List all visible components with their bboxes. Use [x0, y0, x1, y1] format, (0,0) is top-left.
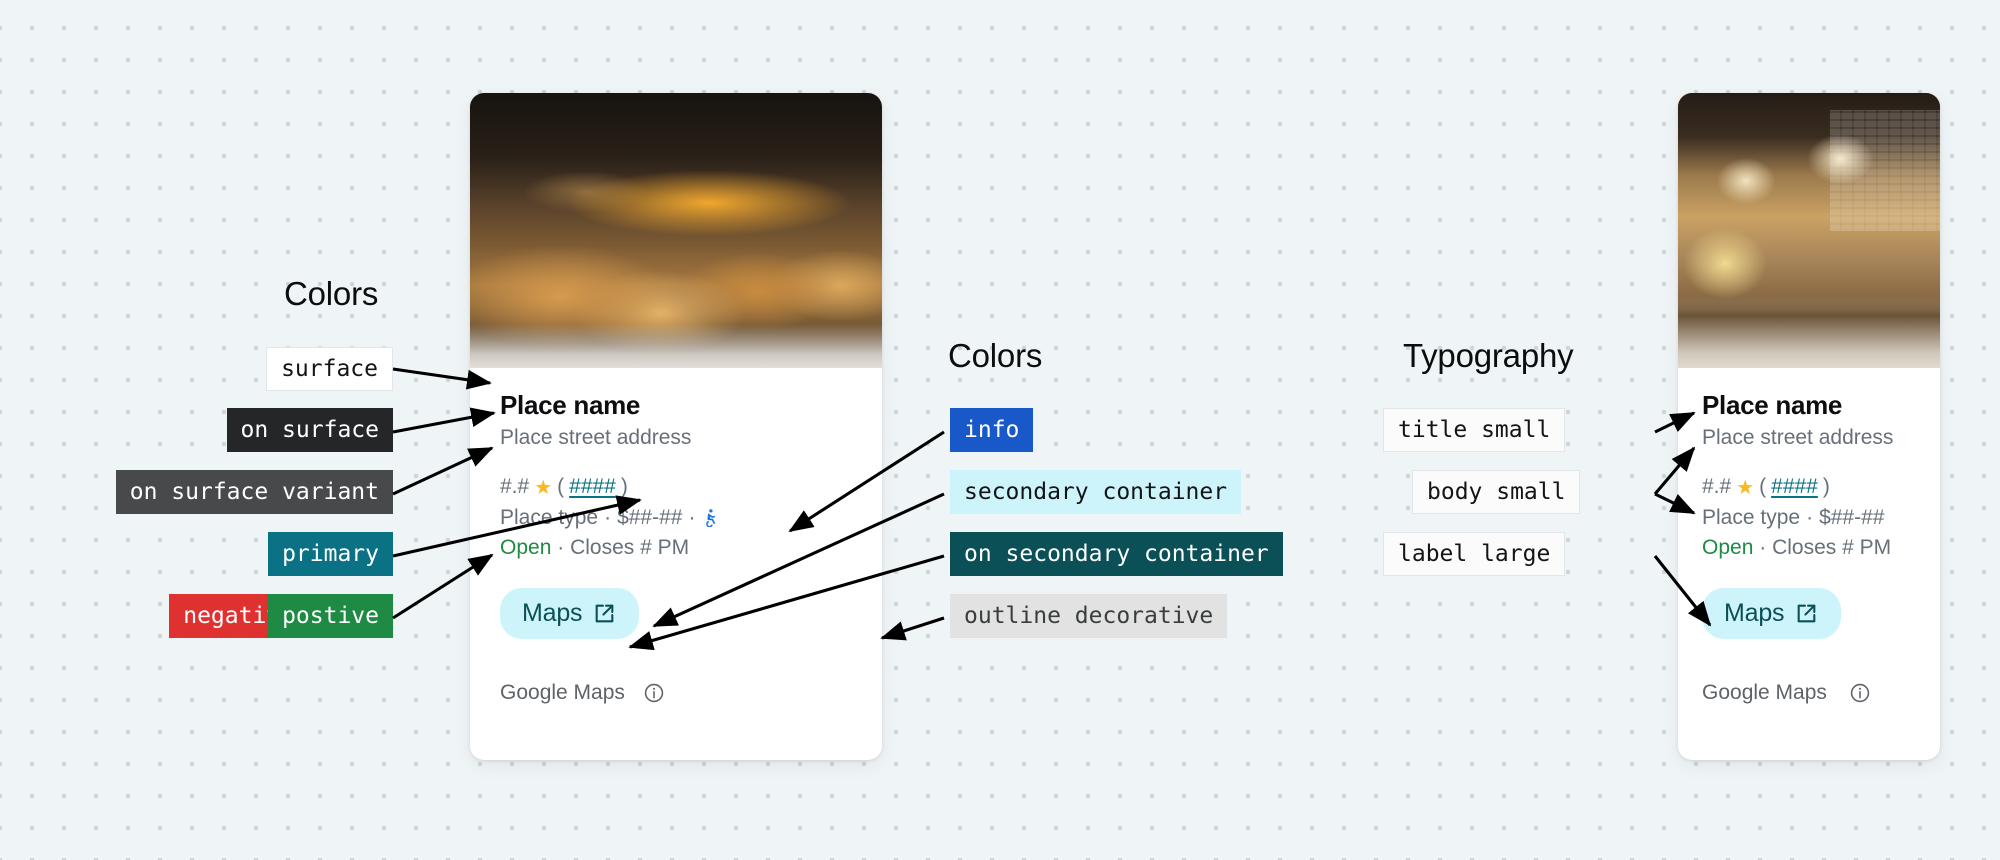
closing-time: Closes # PM — [570, 536, 689, 559]
hours-separator: · — [557, 536, 564, 559]
star-icon: ★ — [534, 478, 552, 498]
place-address: Place street address — [500, 425, 858, 451]
maps-button-label: Maps — [1724, 599, 1784, 628]
place-hours-row: Open · Closes # PM — [500, 534, 858, 562]
info-circle-icon[interactable] — [643, 682, 665, 704]
section-heading-colors-middle: Colors — [948, 337, 1042, 375]
footer-brand-label: Google Maps — [1702, 681, 1827, 705]
maps-button[interactable]: Maps — [500, 588, 639, 639]
color-chip-on-secondary-container[interactable]: on secondary container — [950, 532, 1283, 576]
color-chip-secondary-container[interactable]: secondary container — [950, 470, 1241, 514]
meta-separator-1: · — [1806, 504, 1813, 532]
color-chip-on-surface[interactable]: on surface — [227, 408, 393, 452]
place-card-left: Place name Place street address #.# ★ (#… — [470, 93, 882, 760]
rating-count[interactable]: #### — [1771, 473, 1818, 501]
maps-button[interactable]: Maps — [1702, 588, 1841, 639]
place-card-body: Place name Place street address #.# ★ (#… — [470, 368, 882, 725]
place-name: Place name — [1702, 390, 1926, 421]
typography-chip-label-large[interactable]: label large — [1383, 532, 1565, 576]
color-chip-on-surface-variant[interactable]: on surface variant — [116, 470, 393, 514]
color-chip-primary[interactable]: primary — [268, 532, 393, 576]
place-rating-row: #.# ★ (####) — [1702, 473, 1926, 501]
place-card-right: Place name Place street address #.# ★ (#… — [1678, 93, 1940, 760]
place-address: Place street address — [1702, 425, 1926, 451]
color-chip-surface[interactable]: surface — [266, 347, 393, 391]
typography-chip-body-small[interactable]: body small — [1412, 470, 1580, 514]
place-rating-row: #.# ★ (####) — [500, 473, 858, 501]
price-range: $##-## — [617, 504, 682, 532]
rating-open-paren: ( — [1759, 473, 1766, 501]
star-icon: ★ — [1736, 478, 1754, 498]
rating-open-paren: ( — [557, 473, 564, 501]
place-meta-row: Place type · $##-## · — [500, 504, 858, 532]
rating-value: #.# — [500, 473, 529, 501]
place-name: Place name — [500, 390, 858, 421]
price-range: $##-## — [1819, 504, 1884, 532]
place-photo-cafe — [1678, 93, 1940, 368]
place-card-body: Place name Place street address #.# ★ (#… — [1678, 368, 1940, 725]
open-status: Open — [1702, 536, 1753, 559]
card-footer: Google Maps — [500, 681, 858, 725]
open-status: Open — [500, 536, 551, 559]
wheelchair-icon — [701, 508, 720, 527]
meta-separator-2: · — [688, 504, 695, 532]
place-meta-row: Place type · $##-## — [1702, 504, 1926, 532]
place-type: Place type — [500, 504, 598, 532]
card-footer: Google Maps — [1702, 681, 1926, 725]
maps-button-label: Maps — [522, 599, 582, 628]
rating-count[interactable]: #### — [569, 473, 616, 501]
hours-separator: · — [1759, 536, 1766, 559]
color-chip-outline-decorative[interactable]: outline decorative — [950, 594, 1227, 638]
place-hours-row: Open · Closes # PM — [1702, 534, 1926, 562]
arrow-outline-decorative-to-card-border — [882, 618, 944, 638]
footer-brand-label: Google Maps — [500, 681, 625, 705]
color-chip-positive[interactable]: postive — [268, 594, 393, 638]
place-photo-bakery — [470, 93, 882, 368]
external-link-icon — [1794, 601, 1819, 626]
info-circle-icon[interactable] — [1849, 682, 1871, 704]
rating-value: #.# — [1702, 473, 1731, 501]
section-heading-colors-left: Colors — [284, 275, 378, 313]
typography-chip-title-small[interactable]: title small — [1383, 408, 1565, 452]
external-link-icon — [592, 601, 617, 626]
meta-separator-1: · — [604, 504, 611, 532]
closing-time: Closes # PM — [1772, 536, 1891, 559]
rating-close-paren: ) — [1823, 473, 1830, 501]
color-chip-info[interactable]: info — [950, 408, 1033, 452]
canvas: Colors Colors Typography surface on surf… — [0, 0, 2000, 860]
section-heading-typography: Typography — [1403, 337, 1573, 375]
place-type: Place type — [1702, 504, 1800, 532]
rating-close-paren: ) — [621, 473, 628, 501]
